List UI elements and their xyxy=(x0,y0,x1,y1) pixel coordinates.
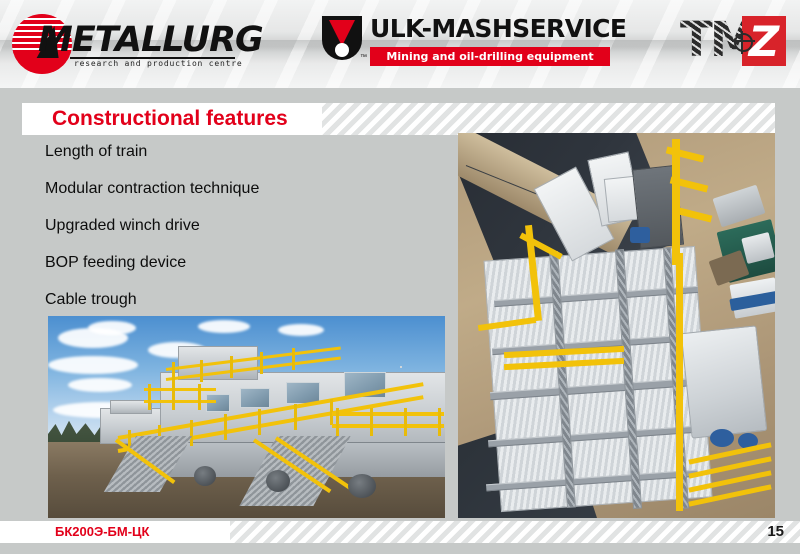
railing xyxy=(144,388,216,391)
list-item: Length of train xyxy=(45,142,445,162)
metallurg-wordmark: METALLURG xyxy=(38,20,263,60)
ulk-shield-icon xyxy=(322,16,362,70)
cloud xyxy=(68,378,132,392)
railing-post xyxy=(230,356,233,378)
tmz-logo: TM Z xyxy=(680,14,786,70)
railing xyxy=(144,400,216,403)
crosshair-icon xyxy=(734,33,753,52)
list-item: Cable trough xyxy=(45,290,445,310)
list-item: BOP feeding device xyxy=(45,253,445,273)
window xyxy=(240,388,270,408)
list-item: Upgraded winch drive xyxy=(45,216,445,236)
page-title: Constructional features xyxy=(52,107,288,131)
wheel xyxy=(266,470,290,492)
ulk-white-dot xyxy=(335,43,349,57)
metallurg-logo: METALLURG research and production centre xyxy=(12,12,237,76)
railing-post xyxy=(294,404,297,430)
blue-drum xyxy=(710,429,734,447)
railing-post xyxy=(224,414,227,440)
model-designation: БК200Э-БМ-ЦК xyxy=(55,524,149,539)
ulk-wordmark: ULK-MASHSERVICE xyxy=(370,14,626,43)
railing-post xyxy=(260,352,263,374)
wheel xyxy=(348,474,376,498)
railing-post xyxy=(200,360,203,382)
window xyxy=(206,394,230,412)
blue-tank xyxy=(630,227,650,243)
list-item: Modular contraction technique xyxy=(45,179,445,199)
railing-post xyxy=(438,408,441,436)
ulk-tagline: Mining and oil-drilling equipment xyxy=(370,50,610,63)
photo-aerial-rig-complex xyxy=(458,133,775,518)
railing-post xyxy=(148,384,151,410)
presentation-slide: METALLURG research and production centre… xyxy=(0,0,800,554)
railing-post xyxy=(172,362,175,384)
cloud xyxy=(88,321,136,335)
slide-footer: БК200Э-БМ-ЦК 15 xyxy=(0,521,800,543)
photo-modular-camp-train xyxy=(48,316,445,518)
window xyxy=(400,366,402,368)
slide-title-band: Constructional features xyxy=(22,103,775,135)
railing-post xyxy=(404,408,407,436)
feature-list: Length of train Modular contraction tech… xyxy=(45,142,445,327)
cloud xyxy=(48,356,138,374)
slide-header: METALLURG research and production centre… xyxy=(0,0,800,88)
railing-post xyxy=(172,384,175,410)
white-tent-shelter xyxy=(681,325,768,438)
railing-post xyxy=(370,408,373,436)
railing-post xyxy=(336,408,339,436)
walkway-rail xyxy=(672,139,680,265)
ulk-trademark-symbol: ™ xyxy=(360,54,367,61)
ulk-mashservice-logo: ™ ULK-MASHSERVICE Mining and oil-drillin… xyxy=(322,14,612,74)
ulk-tagline-band: Mining and oil-drilling equipment xyxy=(370,47,610,66)
railing-post xyxy=(198,384,201,410)
railing-post xyxy=(258,409,261,435)
railing xyxy=(332,412,444,416)
cloud xyxy=(198,320,250,333)
railing-post xyxy=(292,348,295,370)
walkway-rail xyxy=(676,253,683,511)
metallurg-tagline: research and production centre xyxy=(74,59,243,68)
railing-post xyxy=(190,420,193,446)
page-number: 15 xyxy=(767,523,784,540)
railing xyxy=(332,424,444,428)
cloud xyxy=(278,324,324,336)
wheel xyxy=(194,466,216,486)
